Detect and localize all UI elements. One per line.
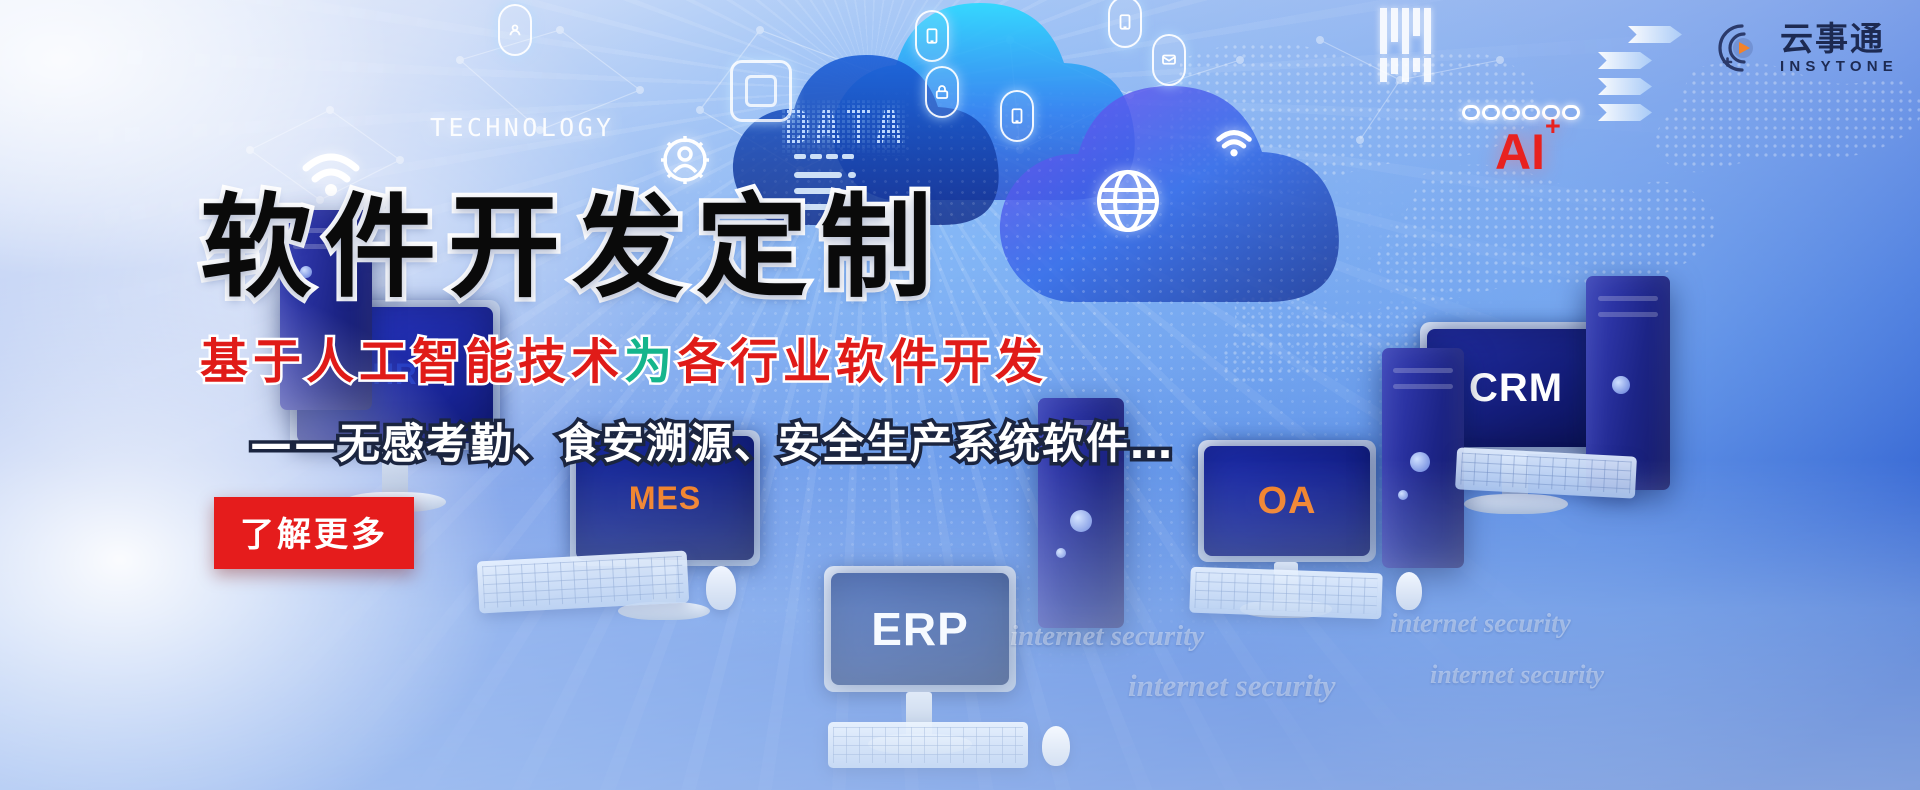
subtitle-highlight: 为 — [624, 334, 677, 390]
mouse-center — [1042, 726, 1070, 766]
screen-erp: ERP — [831, 573, 1009, 685]
wifi-icon-small — [1215, 128, 1253, 158]
subtitle-part2: 各行业软件开发 — [677, 334, 1048, 390]
screen-label-erp: ERP — [871, 602, 969, 656]
mouse-right — [1396, 572, 1422, 610]
learn-more-button[interactable]: 了解更多 — [214, 497, 414, 569]
arrow-chip-3 — [1598, 104, 1652, 121]
arrow-chip-2 — [1598, 78, 1652, 95]
message-icon — [1152, 34, 1186, 86]
mouse-left — [706, 566, 736, 610]
watermark-text-4: internet security — [1430, 660, 1604, 690]
ai-plus: + — [1545, 111, 1561, 141]
mobile-device-icon-1 — [915, 10, 949, 62]
barcode-decor — [1380, 8, 1431, 54]
page-title: 软件开发定制 — [200, 190, 1260, 308]
screen-label-crm: CRM — [1469, 366, 1563, 411]
keyboard-right — [1189, 567, 1382, 620]
hero-tagline: ——无感考勤、食安溯源、安全生产系统软件… — [250, 410, 1260, 471]
barcode-decor-2 — [1380, 58, 1431, 82]
data-label: DATA — [782, 100, 906, 156]
technology-label: TECHNOLOGY — [430, 113, 615, 142]
gear-person-icon — [655, 130, 715, 190]
arrow-chip-4 — [1628, 26, 1682, 43]
user-icon — [498, 4, 532, 56]
pc-tower-right — [1382, 348, 1464, 568]
hero-banner: HR MES ERP OA CRM — [0, 0, 1920, 790]
keyboard-center — [828, 722, 1028, 768]
lock-icon — [925, 66, 959, 118]
watermark-text-1: internet security — [1010, 620, 1204, 653]
watermark-text-2: internet security — [1390, 608, 1571, 639]
keyboard-far-right — [1455, 447, 1637, 498]
watermark-text-3: internet security — [1128, 668, 1336, 704]
logo-mark-icon — [1716, 22, 1768, 74]
ai-text: AI — [1495, 124, 1545, 180]
brand-logo[interactable]: 云事通 INSYTONE — [1716, 22, 1898, 74]
arrow-chip-1 — [1598, 52, 1652, 69]
subtitle-part1: 基于人工智能技术 — [200, 334, 624, 390]
ai-label: AI+ — [1495, 123, 1561, 181]
logo-en-name: INSYTONE — [1780, 59, 1898, 74]
logo-text: 云事通 INSYTONE — [1780, 22, 1898, 74]
logo-cn-name: 云事通 — [1780, 22, 1898, 55]
screen-label-oa: OA — [1258, 480, 1317, 523]
hero-copy: 软件开发定制 基于人工智能技术为各行业软件开发 ——无感考勤、食安溯源、安全生产… — [200, 190, 1260, 569]
mobile-device-icon-3 — [1108, 0, 1142, 48]
chain-link-decor — [1462, 105, 1580, 120]
mobile-device-icon-2 — [1000, 90, 1034, 142]
hero-subtitle: 基于人工智能技术为各行业软件开发 — [200, 322, 1260, 392]
